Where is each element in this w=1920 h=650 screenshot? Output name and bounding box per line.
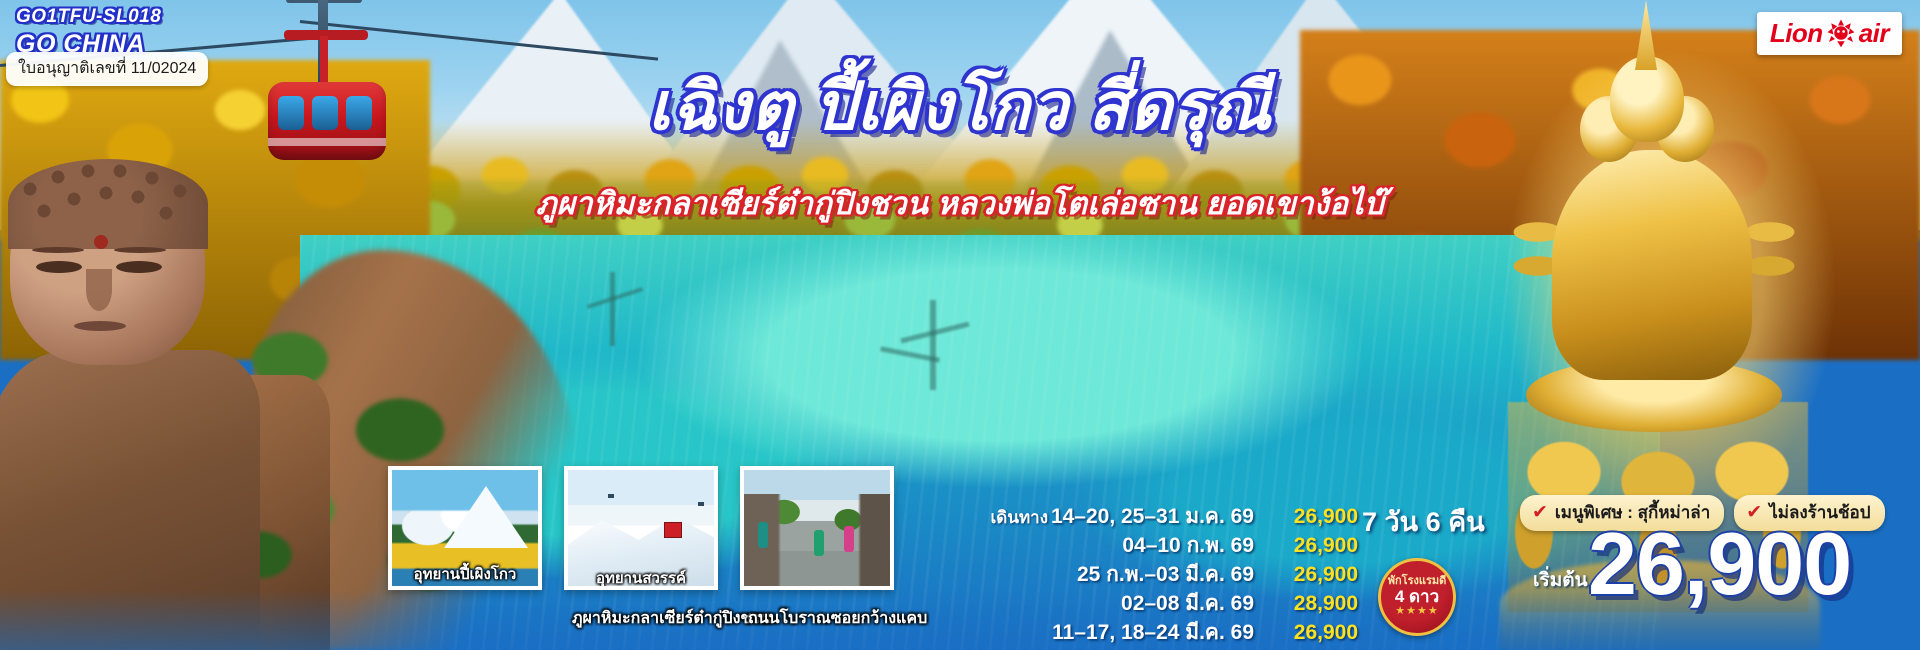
- leshan-giant-buddha: [0, 165, 290, 650]
- dagu-glacier-photo: [568, 470, 714, 586]
- lion-head-icon: [1826, 18, 1856, 48]
- departure-label: เดินทาง: [988, 504, 1048, 531]
- gondola-window: [346, 96, 372, 130]
- departure-price: 26,900: [1266, 505, 1358, 529]
- license-number: ใบอนุญาติเลขที่ 11/02024: [6, 52, 208, 86]
- hotel-badge-line2: 4 ดาว: [1395, 588, 1439, 606]
- cable-car-gondola: [268, 82, 386, 170]
- departure-date: 11–17, 18–24 มี.ค. 69: [1048, 616, 1266, 649]
- departure-price: 26,900: [1266, 534, 1358, 558]
- gondola-window: [278, 96, 304, 130]
- gondola-stripe: [268, 138, 386, 146]
- departure-row: 02–08 มี.ค. 69 28,900: [988, 587, 1358, 616]
- thumbnail-caption-line2: ภูผาหิมะกลาเซียร์ต๋ากู่ปิงชวน: [572, 606, 771, 631]
- thumbnail-item[interactable]: อุทยานปี้เผิงโกว: [388, 466, 542, 590]
- departure-price: 26,900: [1266, 621, 1358, 645]
- buddha-urna: [94, 235, 108, 249]
- submerged-tree: [930, 300, 936, 390]
- thumbnail-caption-line1: อุทยานสวรรค์: [570, 571, 712, 588]
- airline-name-air: air: [1859, 20, 1889, 46]
- airline-name-lion: Lion: [1770, 20, 1823, 46]
- buddha-eye: [116, 261, 162, 273]
- hotel-badge-line1: พักโรงแรมดี: [1388, 576, 1447, 588]
- departure-price: 28,900: [1266, 592, 1358, 616]
- gondola-body: [268, 82, 386, 160]
- buddha-eyebrow: [114, 247, 166, 253]
- kuanzhai-alley-photo: [744, 470, 890, 586]
- submerged-tree: [610, 272, 615, 346]
- airline-logo: Lion air: [1757, 12, 1902, 55]
- buddha-nose: [86, 269, 112, 311]
- price-prefix: เริ่มต้น: [1533, 565, 1588, 595]
- gondola-window: [312, 96, 338, 130]
- departure-row: 04–10 ก.พ. 69 26,900: [988, 529, 1358, 558]
- thumbnail-item[interactable]: อุทยานสวรรค์: [564, 466, 718, 590]
- thumbnail-caption: อุทยานสวรรค์: [568, 571, 714, 588]
- buddha-eye: [36, 261, 82, 273]
- thumbnail-item[interactable]: [740, 466, 894, 590]
- check-icon: ✔: [1532, 503, 1548, 522]
- thumbnail-caption-3: ถนนโบราณซอยกว้างแคบ: [748, 606, 927, 631]
- buddha-mouth: [74, 321, 126, 331]
- departure-row: 25 ก.พ.–03 มี.ค. 69 26,900: [988, 558, 1358, 587]
- highlight-thumbnails: อุทยานปี้เผิงโกว อุทยานสวรรค์: [388, 466, 894, 590]
- departure-table: เดินทาง 14–20, 25–31 ม.ค. 69 26,900 04–1…: [988, 500, 1358, 645]
- departure-row: เดินทาง 14–20, 25–31 ม.ค. 69 26,900: [988, 500, 1358, 529]
- tour-code: GO1TFU-SL018: [16, 6, 161, 28]
- price-amount: 26,900: [1588, 520, 1851, 608]
- buddha-eyebrow: [32, 247, 84, 253]
- buddha-hair-curls: [8, 161, 208, 241]
- statue-body: [1552, 150, 1752, 380]
- gondola-hanger: [320, 36, 328, 86]
- departure-price: 26,900: [1266, 563, 1358, 587]
- hotel-badge-stars: ★★★★: [1395, 606, 1438, 618]
- hotel-star-badge: พักโรงแรมดี 4 ดาว ★★★★: [1378, 558, 1456, 636]
- tour-promo-banner: GO1TFU-SL018 GO CHINA ใบอนุญาติเลขที่ 11…: [0, 0, 1920, 650]
- buddha-body: [0, 350, 260, 650]
- trip-duration: 7 วัน 6 คืน: [1362, 500, 1485, 543]
- thumbnail-caption: อุทยานปี้เผิงโกว: [392, 567, 538, 584]
- departure-row: 11–17, 18–24 มี.ค. 69 26,900: [988, 616, 1358, 645]
